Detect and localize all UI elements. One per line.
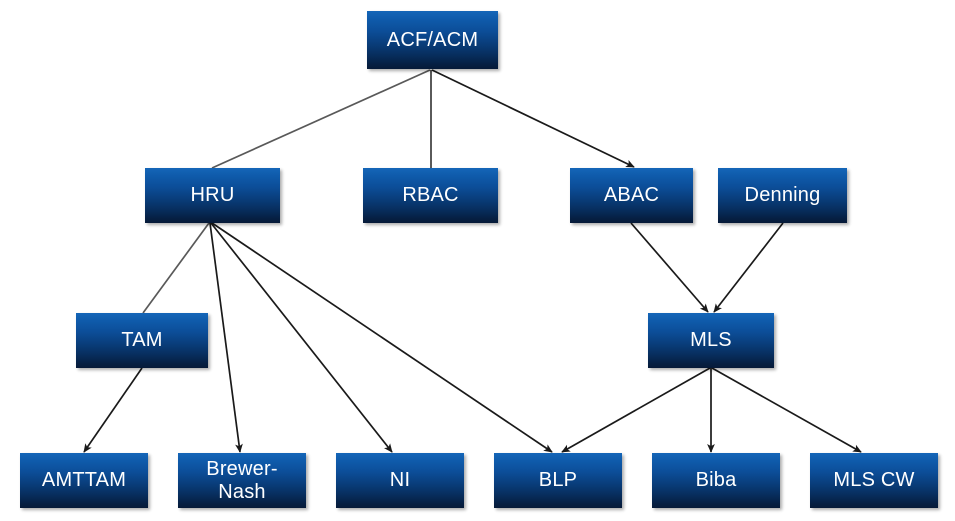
diagram-canvas: ACF/ACMHRURBACABACDenningTAMMLSAMTTAMBre… [0, 0, 955, 521]
node-brewer_nash[interactable]: Brewer-Nash [178, 453, 306, 508]
node-acf_acm[interactable]: ACF/ACM [367, 11, 498, 69]
edge-mls-mlscw [712, 368, 861, 452]
node-denning[interactable]: Denning [718, 168, 847, 223]
node-label-acf_acm: ACF/ACM [367, 29, 498, 51]
node-abac[interactable]: ABAC [570, 168, 693, 223]
edge-hru-brewer [210, 223, 240, 452]
node-label-mls_cw: MLS CW [810, 469, 938, 491]
node-label-abac: ABAC [570, 184, 693, 206]
node-label-rbac: RBAC [363, 184, 498, 206]
edge-tam-amttam [84, 368, 142, 452]
node-rbac[interactable]: RBAC [363, 168, 498, 223]
node-label-blp: BLP [494, 469, 622, 491]
edge-mls-blp [562, 368, 710, 452]
node-hru[interactable]: HRU [145, 168, 280, 223]
edge-hru-blp [212, 223, 552, 452]
edge-layer [0, 0, 955, 521]
edge-denning-mls [714, 223, 783, 312]
edge-hru-ni [211, 223, 392, 452]
node-label-mls: MLS [648, 329, 774, 351]
edge-acf-abac [432, 70, 634, 167]
node-blp[interactable]: BLP [494, 453, 622, 508]
node-mls_cw[interactable]: MLS CW [810, 453, 938, 508]
node-label-biba: Biba [652, 469, 780, 491]
node-label-tam: TAM [76, 329, 208, 351]
node-label-hru: HRU [145, 184, 280, 206]
edge-acf-hru [212, 70, 430, 168]
node-mls[interactable]: MLS [648, 313, 774, 368]
node-label-amttam: AMTTAM [20, 469, 148, 491]
node-ni[interactable]: NI [336, 453, 464, 508]
node-label-denning: Denning [718, 184, 847, 206]
node-label-ni: NI [336, 469, 464, 491]
node-label-brewer_nash: Brewer-Nash [178, 458, 306, 503]
node-amttam[interactable]: AMTTAM [20, 453, 148, 508]
node-biba[interactable]: Biba [652, 453, 780, 508]
edge-abac-mls [631, 223, 708, 312]
node-tam[interactable]: TAM [76, 313, 208, 368]
edge-hru-tam [143, 223, 209, 313]
